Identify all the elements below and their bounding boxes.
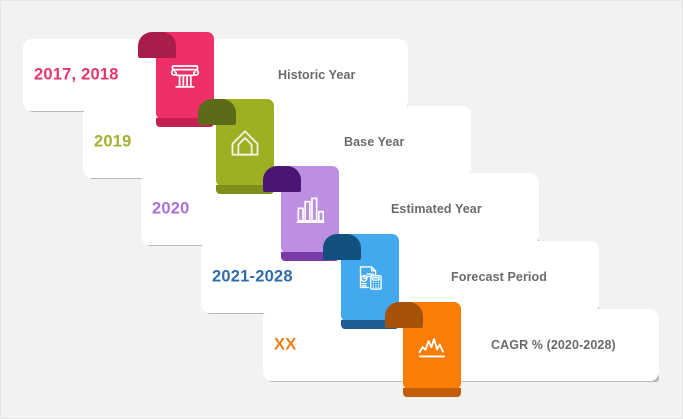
year-value: 2017, 2018 [34, 66, 119, 85]
period-label: Estimated Year [391, 202, 482, 216]
period-label: Forecast Period [451, 270, 547, 284]
infographic-canvas: 2017, 2018 Historic Year 2019 Base [0, 0, 683, 419]
icon-card-cagr[interactable] [403, 302, 461, 390]
period-label: Historic Year [278, 68, 356, 82]
year-value: XX [274, 336, 296, 355]
line-chart-icon [403, 302, 461, 390]
period-label: Base Year [344, 135, 404, 149]
timeline-row-cagr: XX CAGR % (2020-2028) [263, 309, 659, 381]
year-value: 2020 [152, 200, 190, 219]
period-label: CAGR % (2020-2028) [491, 338, 616, 352]
year-value: 2019 [94, 133, 132, 152]
year-value: 2021-2028 [212, 268, 293, 287]
